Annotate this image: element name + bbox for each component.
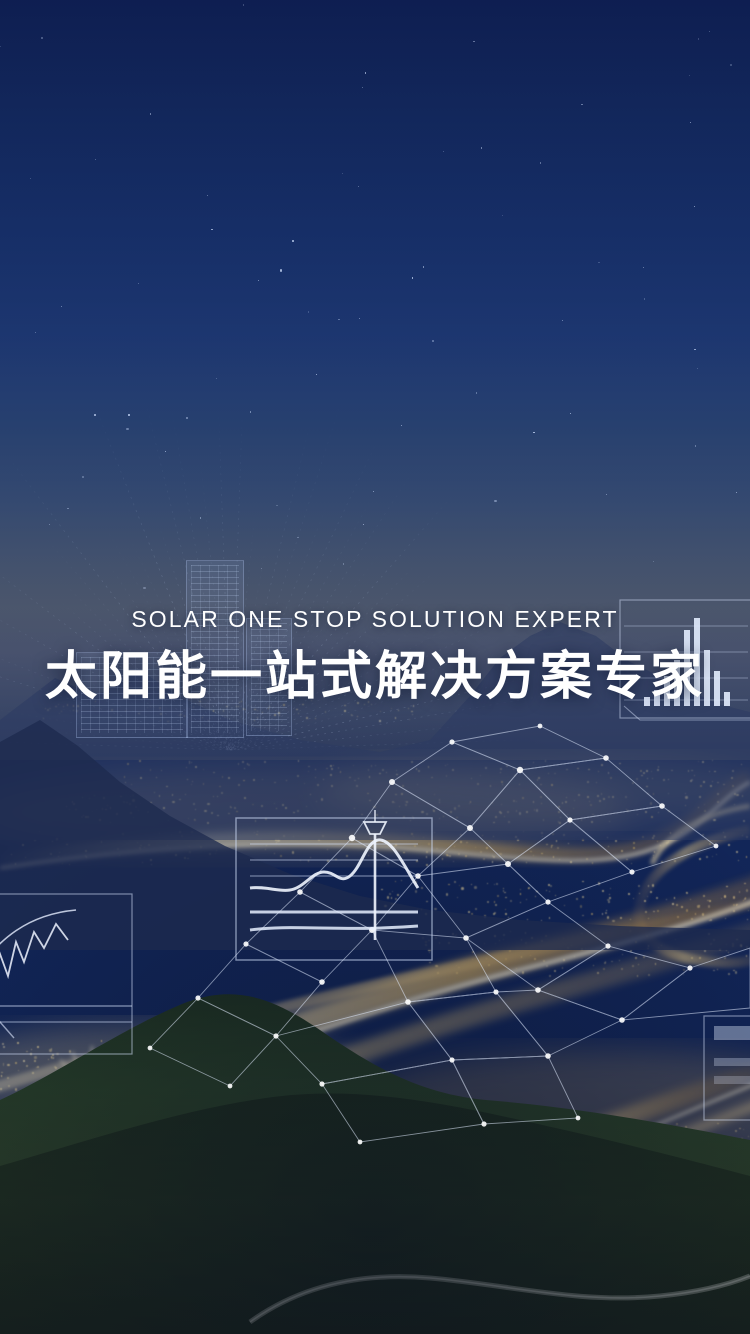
hero-banner: SOLAR ONE STOP SOLUTION EXPERT 太阳能一站式解决方… — [0, 0, 750, 1334]
hud-wave-panel-center — [232, 800, 442, 990]
hero-eyebrow: SOLAR ONE STOP SOLUTION EXPERT — [0, 604, 750, 634]
hud-frame-panel-right — [700, 1010, 750, 1140]
hero-headline: 太阳能一站式解决方案专家 — [0, 646, 750, 708]
hud-spark-panel-left — [0, 888, 156, 1068]
hero-copy: SOLAR ONE STOP SOLUTION EXPERT 太阳能一站式解决方… — [0, 604, 750, 708]
